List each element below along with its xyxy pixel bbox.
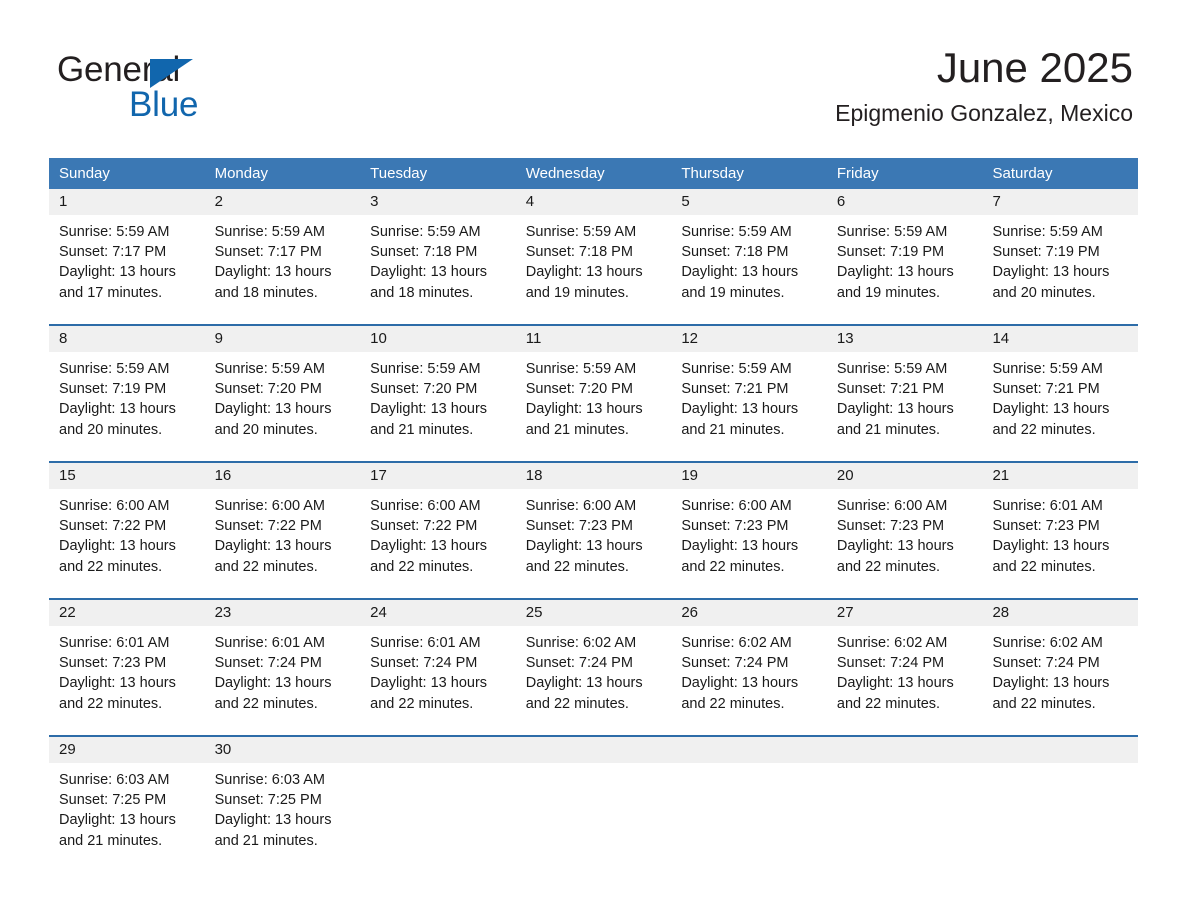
sunrise-text: Sunrise: 6:01 AM xyxy=(992,496,1128,516)
day-number-band: 1 2 3 4 5 6 7 xyxy=(49,189,1138,215)
day-cell[interactable]: Sunrise: 6:00 AM Sunset: 7:23 PM Dayligh… xyxy=(671,489,827,598)
sunrise-text: Sunrise: 6:01 AM xyxy=(370,633,506,653)
day-cell-empty xyxy=(516,763,672,867)
sunrise-text: Sunrise: 5:59 AM xyxy=(992,222,1128,242)
day-cell[interactable]: Sunrise: 6:02 AM Sunset: 7:24 PM Dayligh… xyxy=(982,626,1138,735)
daylight-text-line2: and 19 minutes. xyxy=(837,283,973,303)
sunrise-text: Sunrise: 6:02 AM xyxy=(681,633,817,653)
daylight-text-line2: and 22 minutes. xyxy=(681,694,817,714)
sunrise-text: Sunrise: 6:02 AM xyxy=(992,633,1128,653)
calendar-week-row: 29 30 Sunrise: 6:03 AM Sunset: 7:25 PM D… xyxy=(49,735,1138,867)
day-number[interactable]: 28 xyxy=(982,600,1138,626)
sunrise-text: Sunrise: 5:59 AM xyxy=(59,359,195,379)
sunset-text: Sunset: 7:18 PM xyxy=(681,242,817,262)
daylight-text-line2: and 22 minutes. xyxy=(215,557,351,577)
sunset-text: Sunset: 7:22 PM xyxy=(59,516,195,536)
weekday-header-wednesday: Wednesday xyxy=(516,158,672,189)
day-number[interactable]: 2 xyxy=(205,189,361,215)
sunset-text: Sunset: 7:25 PM xyxy=(215,790,351,810)
sunset-text: Sunset: 7:24 PM xyxy=(215,653,351,673)
day-cell[interactable]: Sunrise: 5:59 AM Sunset: 7:18 PM Dayligh… xyxy=(671,215,827,324)
sunset-text: Sunset: 7:21 PM xyxy=(837,379,973,399)
day-number-band: 22 23 24 25 26 27 28 xyxy=(49,600,1138,626)
sunrise-text: Sunrise: 5:59 AM xyxy=(837,359,973,379)
day-number[interactable]: 15 xyxy=(49,463,205,489)
daylight-text-line2: and 18 minutes. xyxy=(215,283,351,303)
day-cell[interactable]: Sunrise: 6:02 AM Sunset: 7:24 PM Dayligh… xyxy=(827,626,983,735)
daylight-text-line1: Daylight: 13 hours xyxy=(370,262,506,282)
logo-text-blue: Blue xyxy=(129,87,198,122)
day-detail-band: Sunrise: 6:03 AM Sunset: 7:25 PM Dayligh… xyxy=(49,763,1138,867)
sunrise-text: Sunrise: 5:59 AM xyxy=(370,222,506,242)
weekday-header-friday: Friday xyxy=(827,158,983,189)
sunset-text: Sunset: 7:17 PM xyxy=(215,242,351,262)
sunset-text: Sunset: 7:22 PM xyxy=(370,516,506,536)
day-cell[interactable]: Sunrise: 5:59 AM Sunset: 7:17 PM Dayligh… xyxy=(205,215,361,324)
day-number-empty xyxy=(671,737,827,763)
daylight-text-line1: Daylight: 13 hours xyxy=(59,673,195,693)
page-header: General Blue June 2025 Epigmenio Gonzale… xyxy=(0,0,1188,158)
day-cell[interactable]: Sunrise: 5:59 AM Sunset: 7:18 PM Dayligh… xyxy=(360,215,516,324)
day-cell[interactable]: Sunrise: 6:02 AM Sunset: 7:24 PM Dayligh… xyxy=(671,626,827,735)
sunset-text: Sunset: 7:20 PM xyxy=(526,379,662,399)
sunset-text: Sunset: 7:24 PM xyxy=(837,653,973,673)
daylight-text-line1: Daylight: 13 hours xyxy=(681,399,817,419)
sunset-text: Sunset: 7:23 PM xyxy=(526,516,662,536)
sunset-text: Sunset: 7:23 PM xyxy=(59,653,195,673)
daylight-text-line1: Daylight: 13 hours xyxy=(215,536,351,556)
daylight-text-line2: and 21 minutes. xyxy=(681,420,817,440)
day-number[interactable]: 14 xyxy=(982,326,1138,352)
daylight-text-line2: and 21 minutes. xyxy=(215,831,351,851)
day-number[interactable]: 26 xyxy=(671,600,827,626)
day-number-band: 29 30 xyxy=(49,737,1138,763)
daylight-text-line1: Daylight: 13 hours xyxy=(370,673,506,693)
day-cell[interactable]: Sunrise: 6:01 AM Sunset: 7:23 PM Dayligh… xyxy=(49,626,205,735)
day-cell[interactable]: Sunrise: 5:59 AM Sunset: 7:17 PM Dayligh… xyxy=(49,215,205,324)
day-number-band: 15 16 17 18 19 20 21 xyxy=(49,463,1138,489)
daylight-text-line2: and 22 minutes. xyxy=(837,694,973,714)
title-block: June 2025 Epigmenio Gonzalez, Mexico xyxy=(835,44,1133,126)
day-cell[interactable]: Sunrise: 6:03 AM Sunset: 7:25 PM Dayligh… xyxy=(49,763,205,867)
day-number[interactable]: 17 xyxy=(360,463,516,489)
daylight-text-line2: and 22 minutes. xyxy=(681,557,817,577)
daylight-text-line2: and 22 minutes. xyxy=(370,557,506,577)
day-number[interactable]: 19 xyxy=(671,463,827,489)
day-cell[interactable]: Sunrise: 5:59 AM Sunset: 7:20 PM Dayligh… xyxy=(360,352,516,461)
day-cell[interactable]: Sunrise: 6:00 AM Sunset: 7:23 PM Dayligh… xyxy=(827,489,983,598)
sunrise-text: Sunrise: 6:00 AM xyxy=(215,496,351,516)
daylight-text-line1: Daylight: 13 hours xyxy=(215,810,351,830)
day-number[interactable]: 18 xyxy=(516,463,672,489)
daylight-text-line1: Daylight: 13 hours xyxy=(215,399,351,419)
daylight-text-line1: Daylight: 13 hours xyxy=(837,399,973,419)
daylight-text-line2: and 20 minutes. xyxy=(992,283,1128,303)
calendar-week-row: 22 23 24 25 26 27 28 Sunrise: 6:01 AM Su… xyxy=(49,598,1138,735)
daylight-text-line2: and 19 minutes. xyxy=(681,283,817,303)
day-cell[interactable]: Sunrise: 5:59 AM Sunset: 7:19 PM Dayligh… xyxy=(982,215,1138,324)
day-number[interactable]: 25 xyxy=(516,600,672,626)
day-number[interactable]: 13 xyxy=(827,326,983,352)
day-number[interactable]: 30 xyxy=(205,737,361,763)
daylight-text-line1: Daylight: 13 hours xyxy=(526,673,662,693)
day-number[interactable]: 29 xyxy=(49,737,205,763)
day-cell[interactable]: Sunrise: 6:00 AM Sunset: 7:23 PM Dayligh… xyxy=(516,489,672,598)
daylight-text-line2: and 19 minutes. xyxy=(526,283,662,303)
daylight-text-line1: Daylight: 13 hours xyxy=(681,262,817,282)
sunrise-text: Sunrise: 6:00 AM xyxy=(837,496,973,516)
daylight-text-line1: Daylight: 13 hours xyxy=(370,536,506,556)
day-detail-band: Sunrise: 5:59 AM Sunset: 7:17 PM Dayligh… xyxy=(49,215,1138,324)
day-cell[interactable]: Sunrise: 5:59 AM Sunset: 7:19 PM Dayligh… xyxy=(827,215,983,324)
daylight-text-line1: Daylight: 13 hours xyxy=(526,536,662,556)
daylight-text-line2: and 22 minutes. xyxy=(215,694,351,714)
daylight-text-line2: and 20 minutes. xyxy=(215,420,351,440)
day-number[interactable]: 6 xyxy=(827,189,983,215)
day-detail-band: Sunrise: 6:00 AM Sunset: 7:22 PM Dayligh… xyxy=(49,489,1138,598)
day-number[interactable]: 22 xyxy=(49,600,205,626)
sunrise-text: Sunrise: 6:03 AM xyxy=(215,770,351,790)
weekday-header-monday: Monday xyxy=(205,158,361,189)
daylight-text-line2: and 22 minutes. xyxy=(992,557,1128,577)
daylight-text-line2: and 21 minutes. xyxy=(59,831,195,851)
daylight-text-line2: and 21 minutes. xyxy=(526,420,662,440)
sunrise-text: Sunrise: 6:00 AM xyxy=(526,496,662,516)
day-cell-empty xyxy=(982,763,1138,867)
daylight-text-line1: Daylight: 13 hours xyxy=(992,262,1128,282)
daylight-text-line1: Daylight: 13 hours xyxy=(526,399,662,419)
day-detail-band: Sunrise: 5:59 AM Sunset: 7:19 PM Dayligh… xyxy=(49,352,1138,461)
sunset-text: Sunset: 7:25 PM xyxy=(59,790,195,810)
calendar-page: General Blue June 2025 Epigmenio Gonzale… xyxy=(0,0,1188,918)
daylight-text-line2: and 22 minutes. xyxy=(992,420,1128,440)
sunset-text: Sunset: 7:21 PM xyxy=(681,379,817,399)
day-cell[interactable]: Sunrise: 6:01 AM Sunset: 7:24 PM Dayligh… xyxy=(360,626,516,735)
day-number[interactable]: 16 xyxy=(205,463,361,489)
sunrise-text: Sunrise: 6:01 AM xyxy=(215,633,351,653)
day-number-band: 8 9 10 11 12 13 14 xyxy=(49,326,1138,352)
sunset-text: Sunset: 7:19 PM xyxy=(992,242,1128,262)
day-cell-empty xyxy=(360,763,516,867)
daylight-text-line2: and 22 minutes. xyxy=(992,694,1128,714)
sunset-text: Sunset: 7:18 PM xyxy=(526,242,662,262)
sunset-text: Sunset: 7:17 PM xyxy=(59,242,195,262)
sunset-text: Sunset: 7:22 PM xyxy=(215,516,351,536)
day-cell[interactable]: Sunrise: 6:00 AM Sunset: 7:22 PM Dayligh… xyxy=(49,489,205,598)
day-number-empty xyxy=(827,737,983,763)
page-subtitle: Epigmenio Gonzalez, Mexico xyxy=(835,100,1133,126)
daylight-text-line1: Daylight: 13 hours xyxy=(837,262,973,282)
day-number[interactable]: 3 xyxy=(360,189,516,215)
sunrise-text: Sunrise: 5:59 AM xyxy=(526,359,662,379)
daylight-text-line2: and 20 minutes. xyxy=(59,420,195,440)
weekday-header-thursday: Thursday xyxy=(671,158,827,189)
daylight-text-line1: Daylight: 13 hours xyxy=(59,810,195,830)
day-number[interactable]: 7 xyxy=(982,189,1138,215)
day-cell[interactable]: Sunrise: 6:01 AM Sunset: 7:23 PM Dayligh… xyxy=(982,489,1138,598)
sunrise-text: Sunrise: 6:02 AM xyxy=(837,633,973,653)
day-number[interactable]: 4 xyxy=(516,189,672,215)
day-number[interactable]: 27 xyxy=(827,600,983,626)
daylight-text-line1: Daylight: 13 hours xyxy=(59,262,195,282)
daylight-text-line2: and 22 minutes. xyxy=(59,694,195,714)
sunrise-text: Sunrise: 5:59 AM xyxy=(370,359,506,379)
day-number[interactable]: 12 xyxy=(671,326,827,352)
daylight-text-line2: and 22 minutes. xyxy=(526,694,662,714)
day-cell[interactable]: Sunrise: 5:59 AM Sunset: 7:19 PM Dayligh… xyxy=(49,352,205,461)
sunset-text: Sunset: 7:23 PM xyxy=(992,516,1128,536)
daylight-text-line1: Daylight: 13 hours xyxy=(215,262,351,282)
sunrise-text: Sunrise: 5:59 AM xyxy=(215,359,351,379)
weekday-header-tuesday: Tuesday xyxy=(360,158,516,189)
sunrise-text: Sunrise: 6:03 AM xyxy=(59,770,195,790)
daylight-text-line2: and 17 minutes. xyxy=(59,283,195,303)
daylight-text-line1: Daylight: 13 hours xyxy=(59,399,195,419)
sunset-text: Sunset: 7:19 PM xyxy=(837,242,973,262)
sunrise-text: Sunrise: 5:59 AM xyxy=(992,359,1128,379)
sunset-text: Sunset: 7:24 PM xyxy=(992,653,1128,673)
daylight-text-line1: Daylight: 13 hours xyxy=(681,536,817,556)
daylight-text-line2: and 22 minutes. xyxy=(59,557,195,577)
day-number[interactable]: 10 xyxy=(360,326,516,352)
day-cell[interactable]: Sunrise: 6:02 AM Sunset: 7:24 PM Dayligh… xyxy=(516,626,672,735)
sunrise-text: Sunrise: 5:59 AM xyxy=(526,222,662,242)
calendar-week-row: 1 2 3 4 5 6 7 Sunrise: 5:59 AM Sunset: 7… xyxy=(49,189,1138,324)
day-cell[interactable]: Sunrise: 5:59 AM Sunset: 7:20 PM Dayligh… xyxy=(516,352,672,461)
daylight-text-line2: and 22 minutes. xyxy=(837,557,973,577)
calendar-week-row: 8 9 10 11 12 13 14 Sunrise: 5:59 AM Suns… xyxy=(49,324,1138,461)
daylight-text-line1: Daylight: 13 hours xyxy=(215,673,351,693)
day-number[interactable]: 20 xyxy=(827,463,983,489)
daylight-text-line1: Daylight: 13 hours xyxy=(992,399,1128,419)
daylight-text-line2: and 21 minutes. xyxy=(370,420,506,440)
sunset-text: Sunset: 7:24 PM xyxy=(681,653,817,673)
day-number[interactable]: 5 xyxy=(671,189,827,215)
day-number-empty xyxy=(360,737,516,763)
daylight-text-line1: Daylight: 13 hours xyxy=(370,399,506,419)
calendar-week-row: 15 16 17 18 19 20 21 Sunrise: 6:00 AM Su… xyxy=(49,461,1138,598)
weekday-header-sunday: Sunday xyxy=(49,158,205,189)
day-number[interactable]: 9 xyxy=(205,326,361,352)
weekday-header-saturday: Saturday xyxy=(982,158,1138,189)
day-number-empty xyxy=(516,737,672,763)
day-detail-band: Sunrise: 6:01 AM Sunset: 7:23 PM Dayligh… xyxy=(49,626,1138,735)
sunset-text: Sunset: 7:24 PM xyxy=(526,653,662,673)
day-cell-empty xyxy=(827,763,983,867)
daylight-text-line1: Daylight: 13 hours xyxy=(681,673,817,693)
calendar-grid: Sunday Monday Tuesday Wednesday Thursday… xyxy=(49,158,1138,867)
sunrise-text: Sunrise: 5:59 AM xyxy=(59,222,195,242)
day-cell[interactable]: Sunrise: 6:03 AM Sunset: 7:25 PM Dayligh… xyxy=(205,763,361,867)
day-number[interactable]: 1 xyxy=(49,189,205,215)
day-cell[interactable]: Sunrise: 5:59 AM Sunset: 7:21 PM Dayligh… xyxy=(671,352,827,461)
day-cell[interactable]: Sunrise: 5:59 AM Sunset: 7:18 PM Dayligh… xyxy=(516,215,672,324)
day-number[interactable]: 11 xyxy=(516,326,672,352)
day-number[interactable]: 24 xyxy=(360,600,516,626)
day-cell[interactable]: Sunrise: 5:59 AM Sunset: 7:21 PM Dayligh… xyxy=(982,352,1138,461)
daylight-text-line1: Daylight: 13 hours xyxy=(59,536,195,556)
general-blue-logo[interactable]: General Blue xyxy=(57,52,317,132)
triangle-icon xyxy=(150,59,193,88)
day-cell[interactable]: Sunrise: 5:59 AM Sunset: 7:21 PM Dayligh… xyxy=(827,352,983,461)
daylight-text-line2: and 21 minutes. xyxy=(837,420,973,440)
day-cell-empty xyxy=(671,763,827,867)
daylight-text-line2: and 22 minutes. xyxy=(526,557,662,577)
weekday-header-row: Sunday Monday Tuesday Wednesday Thursday… xyxy=(49,158,1138,189)
daylight-text-line1: Daylight: 13 hours xyxy=(992,536,1128,556)
daylight-text-line1: Daylight: 13 hours xyxy=(992,673,1128,693)
day-number[interactable]: 8 xyxy=(49,326,205,352)
sunrise-text: Sunrise: 5:59 AM xyxy=(837,222,973,242)
sunrise-text: Sunrise: 6:00 AM xyxy=(370,496,506,516)
day-number-empty xyxy=(982,737,1138,763)
sunset-text: Sunset: 7:19 PM xyxy=(59,379,195,399)
day-cell[interactable]: Sunrise: 5:59 AM Sunset: 7:20 PM Dayligh… xyxy=(205,352,361,461)
day-cell[interactable]: Sunrise: 6:00 AM Sunset: 7:22 PM Dayligh… xyxy=(205,489,361,598)
sunset-text: Sunset: 7:24 PM xyxy=(370,653,506,673)
sunset-text: Sunset: 7:20 PM xyxy=(215,379,351,399)
sunset-text: Sunset: 7:23 PM xyxy=(681,516,817,536)
day-cell[interactable]: Sunrise: 6:00 AM Sunset: 7:22 PM Dayligh… xyxy=(360,489,516,598)
sunrise-text: Sunrise: 6:02 AM xyxy=(526,633,662,653)
day-cell[interactable]: Sunrise: 6:01 AM Sunset: 7:24 PM Dayligh… xyxy=(205,626,361,735)
daylight-text-line2: and 18 minutes. xyxy=(370,283,506,303)
sunrise-text: Sunrise: 6:00 AM xyxy=(59,496,195,516)
sunset-text: Sunset: 7:21 PM xyxy=(992,379,1128,399)
day-number[interactable]: 21 xyxy=(982,463,1138,489)
page-title: June 2025 xyxy=(835,44,1133,91)
sunset-text: Sunset: 7:20 PM xyxy=(370,379,506,399)
daylight-text-line1: Daylight: 13 hours xyxy=(526,262,662,282)
daylight-text-line2: and 22 minutes. xyxy=(370,694,506,714)
sunrise-text: Sunrise: 5:59 AM xyxy=(215,222,351,242)
sunrise-text: Sunrise: 5:59 AM xyxy=(681,359,817,379)
sunrise-text: Sunrise: 6:00 AM xyxy=(681,496,817,516)
sunrise-text: Sunrise: 5:59 AM xyxy=(681,222,817,242)
sunset-text: Sunset: 7:18 PM xyxy=(370,242,506,262)
sunrise-text: Sunrise: 6:01 AM xyxy=(59,633,195,653)
daylight-text-line1: Daylight: 13 hours xyxy=(837,536,973,556)
day-number[interactable]: 23 xyxy=(205,600,361,626)
sunset-text: Sunset: 7:23 PM xyxy=(837,516,973,536)
daylight-text-line1: Daylight: 13 hours xyxy=(837,673,973,693)
